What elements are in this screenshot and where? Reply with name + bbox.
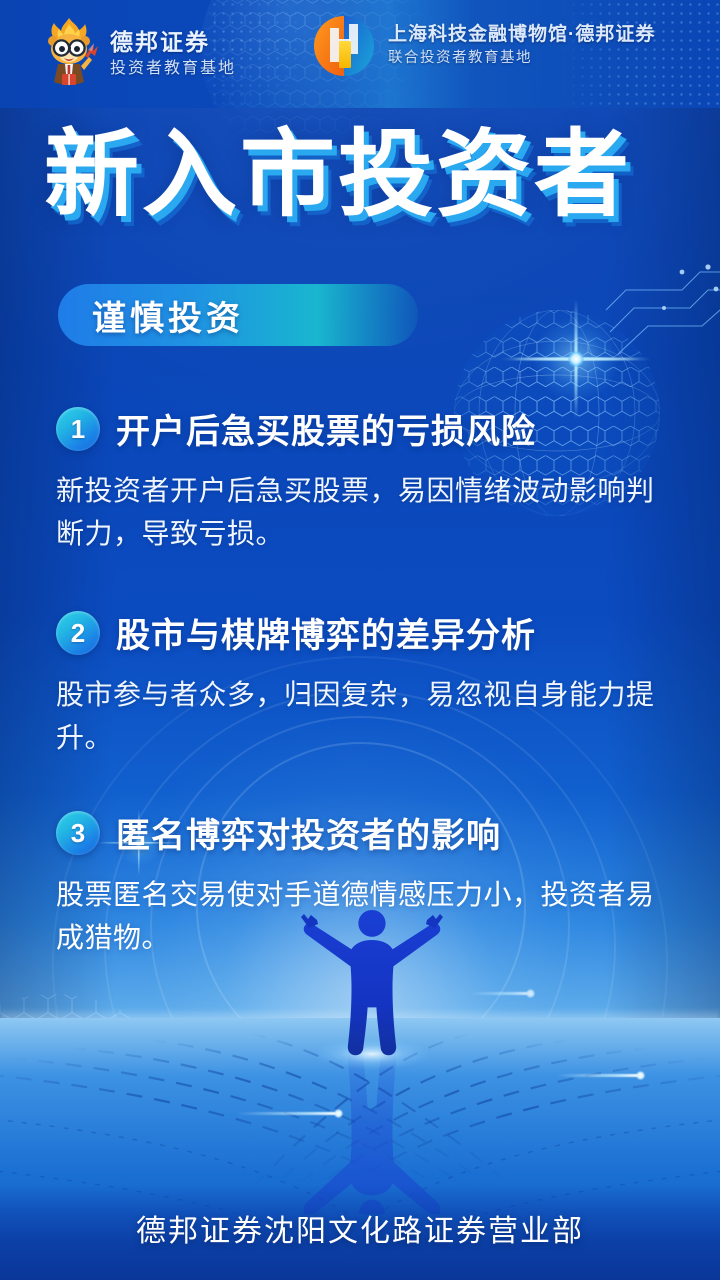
light-comet-icon xyxy=(556,1074,642,1077)
brand-title: 上海科技金融博物馆·德邦证券 xyxy=(388,24,655,46)
list-item: 3 匿名博弈对投资者的影响 股票匿名交易使对手道德情感压力小，投资者易成猎物。 xyxy=(56,808,672,960)
tiger-mascot-icon xyxy=(38,16,100,92)
subtitle-pill: 谨慎投资 xyxy=(58,284,418,346)
brand-text: 德邦证券 投资者教育基地 xyxy=(110,29,236,80)
list-item: 2 股市与棋牌博弈的差异分析 股市参与者众多，归因复杂，易忽视自身能力提升。 xyxy=(56,608,672,760)
header: 德邦证券 投资者教育基地 xyxy=(0,0,720,108)
page-title: 新入市投资者 xyxy=(44,124,684,227)
museum-circle-icon xyxy=(312,14,376,78)
item-title: 匿名博弈对投资者的影响 xyxy=(116,808,501,857)
brand-subtitle: 联合投资者教育基地 xyxy=(388,49,655,68)
item-header: 1 开户后急买股票的亏损风险 xyxy=(56,404,672,453)
item-body: 股市参与者众多，归因复杂，易忽视自身能力提升。 xyxy=(56,673,672,760)
brand-museum: 上海科技金融博物馆·德邦证券 联合投资者教育基地 xyxy=(312,14,655,78)
footer-text: 德邦证券沈阳文化路证券营业部 xyxy=(0,1206,720,1250)
circuit-trace-icon xyxy=(604,262,720,372)
star-sparkle-icon xyxy=(575,358,576,359)
subtitle-pill-label: 谨慎投资 xyxy=(58,291,244,340)
item-number-badge: 3 xyxy=(56,811,100,855)
item-number-badge: 2 xyxy=(56,611,100,655)
list-item: 1 开户后急买股票的亏损风险 新投资者开户后急买股票，易因情绪波动影响判断力，导… xyxy=(56,404,672,556)
item-header: 2 股市与棋牌博弈的差异分析 xyxy=(56,608,672,657)
item-header: 3 匿名博弈对投资者的影响 xyxy=(56,808,672,857)
brand-title: 德邦证券 xyxy=(110,29,236,56)
brand-subtitle: 投资者教育基地 xyxy=(110,59,236,80)
item-title: 股市与棋牌博弈的差异分析 xyxy=(116,608,536,657)
item-body: 股票匿名交易使对手道德情感压力小，投资者易成猎物。 xyxy=(56,873,672,960)
brand-debang: 德邦证券 投资者教育基地 xyxy=(38,16,236,92)
item-title: 开户后急买股票的亏损风险 xyxy=(116,404,536,453)
item-body: 新投资者开户后急买股票，易因情绪波动影响判断力，导致亏损。 xyxy=(56,469,672,556)
brand-text: 上海科技金融博物馆·德邦证券 联合投资者教育基地 xyxy=(388,24,655,68)
poster-root: 德邦证券 投资者教育基地 xyxy=(0,0,720,1280)
item-number-badge: 1 xyxy=(56,407,100,451)
